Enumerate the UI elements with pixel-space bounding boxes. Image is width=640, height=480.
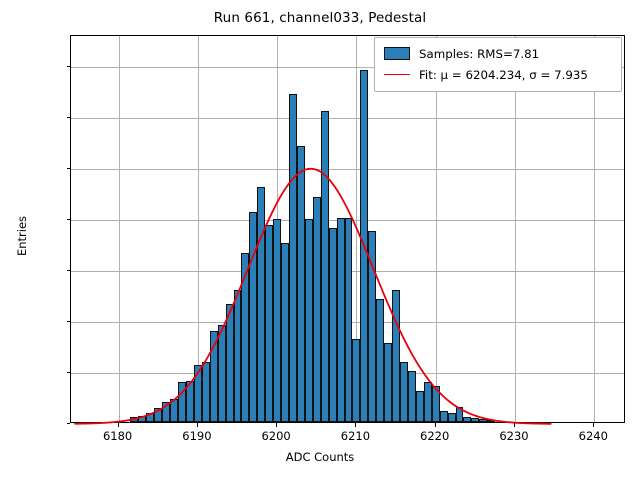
x-tick bbox=[118, 423, 119, 427]
legend-item-samples: Samples: RMS=7.81 bbox=[383, 43, 613, 64]
y-tick bbox=[67, 66, 71, 67]
y-tick bbox=[67, 423, 71, 424]
y-tick bbox=[67, 219, 71, 220]
x-tick-label: 6200 bbox=[261, 429, 290, 443]
legend-item-fit: Fit: μ = 6204.234, σ = 7.935 bbox=[383, 64, 613, 85]
y-axis-label: Entries bbox=[15, 136, 29, 336]
plot-area bbox=[70, 35, 625, 423]
gaussian-fit-curve bbox=[71, 36, 626, 424]
y-tick bbox=[67, 117, 71, 118]
page-title: Run 661, channel033, Pedestal bbox=[0, 10, 640, 26]
y-tick bbox=[67, 372, 71, 373]
y-tick bbox=[67, 168, 71, 169]
x-tick bbox=[514, 423, 515, 427]
x-tick bbox=[435, 423, 436, 427]
x-tick-label: 6210 bbox=[341, 429, 370, 443]
x-axis-label: ADC Counts bbox=[0, 450, 640, 464]
chart-legend: Samples: RMS=7.81 Fit: μ = 6204.234, σ =… bbox=[374, 37, 622, 92]
x-tick bbox=[276, 423, 277, 427]
y-tick bbox=[67, 321, 71, 322]
legend-label-samples: Samples: RMS=7.81 bbox=[419, 47, 539, 61]
y-tick bbox=[67, 270, 71, 271]
x-tick-label: 6220 bbox=[420, 429, 449, 443]
x-tick bbox=[355, 423, 356, 427]
x-tick bbox=[593, 423, 594, 427]
line-swatch-icon bbox=[383, 68, 411, 82]
x-tick bbox=[197, 423, 198, 427]
bar-swatch-icon bbox=[383, 47, 411, 61]
x-tick-label: 6180 bbox=[103, 429, 132, 443]
legend-label-fit: Fit: μ = 6204.234, σ = 7.935 bbox=[419, 68, 588, 82]
x-tick-label: 6240 bbox=[579, 429, 608, 443]
x-tick-label: 6230 bbox=[499, 429, 528, 443]
histogram-figure: Run 661, channel033, Pedestal 6180619062… bbox=[0, 0, 640, 480]
x-tick-label: 6190 bbox=[182, 429, 211, 443]
